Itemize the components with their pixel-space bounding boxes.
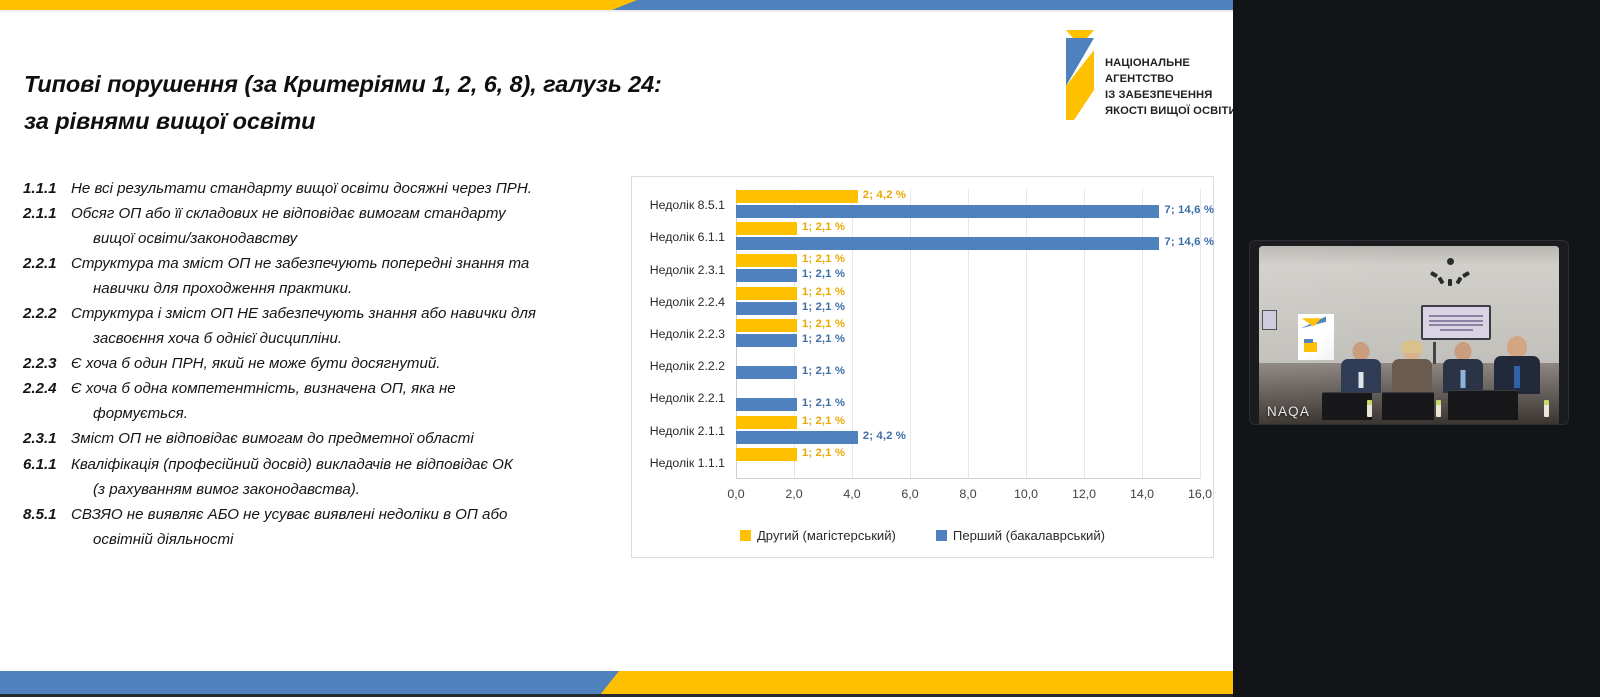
chart-category-row: Недолік 2.2.41; 2,1 %1; 2,1 %	[736, 286, 1200, 318]
chart-bar-blue	[736, 431, 858, 444]
chart-legend: Другий (магістерський)Перший (бакалаврсь…	[632, 528, 1213, 543]
violation-code: 2.2.3	[23, 351, 71, 376]
video-feed: NAQA	[1259, 246, 1559, 424]
violation-code: 2.2.1	[23, 251, 71, 301]
violation-code: 2.1.1	[23, 201, 71, 251]
chart-x-tick-label: 16,0	[1188, 487, 1212, 501]
chart-data-label: 1; 2,1 %	[802, 286, 845, 298]
violation-item: 2.2.1Структура та зміст ОП не забезпечую…	[23, 251, 623, 301]
chart-bar-blue	[736, 269, 797, 282]
violation-item: 2.2.3Є хоча б один ПРН, який не може бут…	[23, 351, 623, 376]
chart-x-tick-label: 10,0	[1014, 487, 1038, 501]
chart-category-label: Недолік 6.1.1	[650, 230, 725, 244]
chart-x-tick-label: 4,0	[843, 487, 860, 501]
chart-category-row: Недолік 2.3.11; 2,1 %1; 2,1 %	[736, 253, 1200, 285]
violation-code: 1.1.1	[23, 176, 71, 201]
chart-legend-item[interactable]: Другий (магістерський)	[740, 528, 896, 543]
violation-code: 2.3.1	[23, 426, 71, 451]
chart-bar-blue	[736, 366, 797, 379]
bottom-accent-yellow	[600, 671, 1233, 695]
violation-item: 6.1.1Кваліфікація (професійний досвід) в…	[23, 452, 623, 502]
chart-x-tick-label: 0,0	[727, 487, 744, 501]
violation-text-line-1: Є хоча б один ПРН, який не може бути дос…	[71, 355, 441, 372]
violation-text-line-2: освітній діяльності	[71, 527, 623, 552]
chart-category-label: Недолік 2.2.1	[650, 391, 725, 405]
top-accent-yellow	[0, 0, 640, 10]
chart-data-label: 7; 14,6 %	[1164, 204, 1214, 216]
slide-title: Типові порушення (за Критеріями 1, 2, 6,…	[24, 66, 844, 140]
chart-x-tick-label: 8,0	[959, 487, 976, 501]
violation-text-line-2: формується.	[71, 401, 623, 426]
violation-item: 2.2.4Є хоча б одна компетентність, визна…	[23, 376, 623, 426]
chart-data-label: 1; 2,1 %	[802, 268, 845, 280]
bottom-accent-blue	[0, 671, 630, 695]
chart-category-row: Недолік 1.1.11; 2,1 %	[736, 447, 1200, 479]
screen: НАЦІОНАЛЬНЕ АГЕНТСТВО ІЗ ЗАБЕЗПЕЧЕННЯ ЯК…	[0, 0, 1600, 697]
chart-category-row: Недолік 6.1.11; 2,1 %7; 14,6 %	[736, 221, 1200, 253]
violation-text-line-1: Обсяг ОП або її складових не відповідає …	[71, 205, 506, 222]
chart-axis-line	[736, 478, 1200, 479]
chart-data-label: 1; 2,1 %	[802, 365, 845, 377]
violation-item: 2.2.2Структура і зміст ОП НЕ забезпечуют…	[23, 301, 623, 351]
chart-data-label: 2; 4,2 %	[863, 189, 906, 201]
chart-bar-yellow	[736, 222, 797, 235]
slide-bottom-accent-bar	[0, 669, 1233, 697]
chart-legend-label: Другий (магістерський)	[757, 528, 896, 543]
chart-x-tick-label: 12,0	[1072, 487, 1096, 501]
chart-x-tick-label: 6,0	[901, 487, 918, 501]
chart-x-tick-label: 14,0	[1130, 487, 1154, 501]
violation-text: Не всі результати стандарту вищої освіти…	[71, 176, 623, 201]
top-accent-shadow	[0, 10, 1233, 13]
violation-text-line-2: навички для проходження практики.	[71, 276, 623, 301]
chart-category-row: Недолік 2.2.11; 2,1 %	[736, 382, 1200, 414]
violation-item: 1.1.1Не всі результати стандарту вищої о…	[23, 176, 623, 201]
chart-bar-blue	[736, 205, 1159, 218]
violation-text-line-2: вищої освіти/законодавству	[71, 226, 623, 251]
chart-x-axis: 0,02,04,06,08,010,012,014,016,0	[736, 487, 1200, 505]
chart-gridline	[1200, 189, 1201, 479]
chart-category-row: Недолік 2.2.31; 2,1 %1; 2,1 %	[736, 318, 1200, 350]
logo-line-2: АГЕНТСТВО	[1105, 72, 1233, 88]
chart-x-tick-label: 2,0	[785, 487, 802, 501]
chart-category-row: Недолік 8.5.12; 4,2 %7; 14,6 %	[736, 189, 1200, 221]
violation-text: СВЗЯО не виявляє АБО не усуває виявлені …	[71, 502, 623, 552]
violation-code: 2.2.2	[23, 301, 71, 351]
video-glare	[1259, 246, 1559, 424]
chart-bar-yellow	[736, 416, 797, 429]
chart-data-label: 1; 2,1 %	[802, 333, 845, 345]
chart-legend-item[interactable]: Перший (бакалаврський)	[936, 528, 1105, 543]
chart-bar-blue	[736, 237, 1159, 250]
logo-line-4: ЯКОСТІ ВИЩОЇ ОСВІТИ	[1105, 104, 1233, 120]
chart-data-label: 1; 2,1 %	[802, 447, 845, 459]
chart-bar-yellow	[736, 287, 797, 300]
violation-text-line-1: СВЗЯО не виявляє АБО не усуває виявлені …	[71, 506, 507, 523]
chart-data-label: 7; 14,6 %	[1164, 236, 1214, 248]
violation-code: 2.2.4	[23, 376, 71, 426]
violation-text-line-1: Не всі результати стандарту вищої освіти…	[71, 180, 532, 197]
chart-category-row: Недолік 2.2.21; 2,1 %	[736, 350, 1200, 382]
chart-data-label: 1; 2,1 %	[802, 397, 845, 409]
naqa-logo: НАЦІОНАЛЬНЕ АГЕНТСТВО ІЗ ЗАБЕЗПЕЧЕННЯ ЯК…	[1044, 28, 1224, 126]
violation-text: Кваліфікація (професійний досвід) виклад…	[71, 452, 623, 502]
violation-text: Є хоча б одна компетентність, визначена …	[71, 376, 623, 426]
violation-text: Є хоча б один ПРН, який не може бути дос…	[71, 351, 623, 376]
violation-text: Структура і зміст ОП НЕ забезпечують зна…	[71, 301, 623, 351]
violation-text-line-1: Зміст ОП не відповідає вимогам до предме…	[71, 430, 474, 447]
chart-bar-yellow	[736, 319, 797, 332]
chart-data-label: 2; 4,2 %	[863, 430, 906, 442]
slide-top-accent-bar	[0, 0, 1233, 10]
naqa-logo-text: НАЦІОНАЛЬНЕ АГЕНТСТВО ІЗ ЗАБЕЗПЕЧЕННЯ ЯК…	[1105, 28, 1233, 120]
chart-bar-yellow	[736, 448, 797, 461]
violation-text-line-2: засвоєння хоча б однієї дисципліни.	[71, 326, 623, 351]
chart-bar-blue	[736, 334, 797, 347]
slide-title-line-1: Типові порушення (за Критеріями 1, 2, 6,…	[24, 66, 844, 103]
violations-list: 1.1.1Не всі результати стандарту вищої о…	[23, 176, 623, 552]
logo-line-3: ІЗ ЗАБЕЗПЕЧЕННЯ	[1105, 88, 1233, 104]
violation-item: 8.5.1СВЗЯО не виявляє АБО не усуває вияв…	[23, 502, 623, 552]
chart-category-label: Недолік 8.5.1	[650, 198, 725, 212]
violation-text: Обсяг ОП або її складових не відповідає …	[71, 201, 623, 251]
violation-text-line-1: Структура та зміст ОП не забезпечують по…	[71, 255, 529, 272]
chart-data-label: 1; 2,1 %	[802, 221, 845, 233]
chart-category-label: Недолік 2.2.4	[650, 295, 725, 309]
chart-bar-blue	[736, 302, 797, 315]
chart-legend-label: Перший (бакалаврський)	[953, 528, 1105, 543]
chart-category-label: Недолік 2.1.1	[650, 424, 725, 438]
presentation-slide: НАЦІОНАЛЬНЕ АГЕНТСТВО ІЗ ЗАБЕЗПЕЧЕННЯ ЯК…	[0, 0, 1233, 697]
chart-legend-swatch	[740, 530, 751, 541]
chart-legend-swatch	[936, 530, 947, 541]
violations-bar-chart: Недолік 8.5.12; 4,2 %7; 14,6 %Недолік 6.…	[631, 176, 1214, 558]
chart-category-label: Недолік 2.3.1	[650, 263, 725, 277]
chart-bar-yellow	[736, 254, 797, 267]
logo-line-1: НАЦІОНАЛЬНЕ	[1105, 56, 1233, 72]
violation-text: Структура та зміст ОП не забезпечують по…	[71, 251, 623, 301]
chart-category-row: Недолік 2.1.11; 2,1 %2; 4,2 %	[736, 415, 1200, 447]
top-accent-blue	[612, 0, 1233, 10]
violation-item: 2.3.1Зміст ОП не відповідає вимогам до п…	[23, 426, 623, 451]
chart-data-label: 1; 2,1 %	[802, 318, 845, 330]
chart-data-label: 1; 2,1 %	[802, 415, 845, 427]
violation-text: Зміст ОП не відповідає вимогам до предме…	[71, 426, 623, 451]
violation-text-line-1: Структура і зміст ОП НЕ забезпечують зна…	[71, 305, 536, 322]
chart-bar-rows: Недолік 8.5.12; 4,2 %7; 14,6 %Недолік 6.…	[736, 189, 1200, 479]
violation-item: 2.1.1Обсяг ОП або її складових не відпов…	[23, 201, 623, 251]
participant-name-label: NAQA	[1267, 404, 1310, 419]
chart-bar-blue	[736, 398, 797, 411]
video-participant-tile[interactable]: NAQA	[1250, 241, 1568, 424]
chart-data-label: 1; 2,1 %	[802, 301, 845, 313]
chart-category-label: Недолік 2.2.2	[650, 359, 725, 373]
naqa-logo-mark-icon	[1044, 28, 1096, 123]
chart-category-label: Недолік 1.1.1	[650, 456, 725, 470]
violation-code: 6.1.1	[23, 452, 71, 502]
violation-text-line-2: (з рахуванням вимог законодавства).	[71, 477, 623, 502]
chart-data-label: 1; 2,1 %	[802, 253, 845, 265]
violation-text-line-1: Є хоча б одна компетентність, визначена …	[71, 380, 456, 397]
chart-plot-area: Недолік 8.5.12; 4,2 %7; 14,6 %Недолік 6.…	[736, 189, 1200, 479]
slide-title-line-2: за рівнями вищої освіти	[24, 103, 844, 140]
chart-bar-yellow	[736, 190, 858, 203]
violation-code: 8.5.1	[23, 502, 71, 552]
violation-text-line-1: Кваліфікація (професійний досвід) виклад…	[71, 456, 513, 473]
chart-category-label: Недолік 2.2.3	[650, 327, 725, 341]
